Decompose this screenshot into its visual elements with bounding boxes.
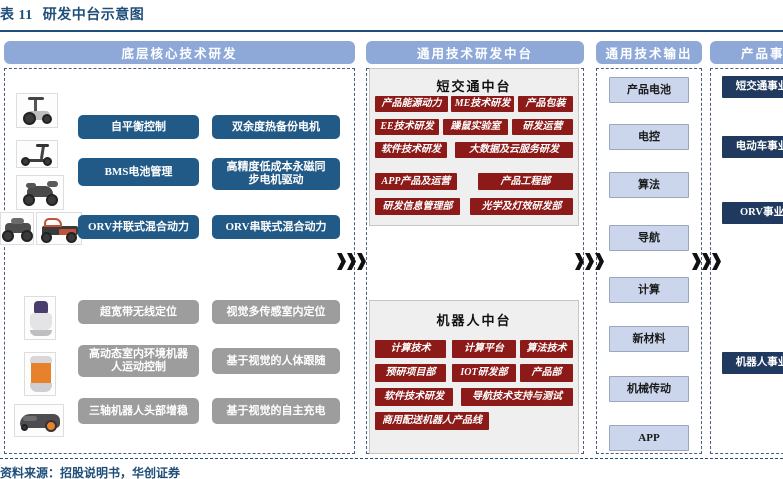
chevron-core-to-platform-icon	[337, 253, 366, 270]
tech-output-item[interactable]: 计算	[609, 277, 689, 303]
platform-item[interactable]: 光学及灯效研发部	[470, 198, 573, 215]
tech-output-item[interactable]: 电控	[609, 124, 689, 150]
source-note: 资料来源：招股说明书，华创证券	[0, 464, 180, 479]
tech-output-item[interactable]: 机械传动	[609, 376, 689, 402]
column-header-business-units: 产品事业	[710, 41, 783, 64]
column-header-tech-output: 通用技术输出	[596, 41, 702, 64]
platform-item[interactable]: 计算平台	[452, 340, 516, 358]
tech-output-item[interactable]: 新材料	[609, 326, 689, 352]
platform-title-robot: 机器人中台	[369, 310, 579, 329]
tech-output-item[interactable]: 产品电池	[609, 77, 689, 103]
platform-item[interactable]: 计算技术	[375, 340, 446, 358]
platform-item[interactable]: 研发信息管理部	[375, 198, 460, 215]
core-tech-box[interactable]: 视觉多传感室内定位	[212, 300, 340, 324]
platform-item[interactable]: APP产品及运营	[375, 173, 457, 190]
platform-item[interactable]: 商用配送机器人产品线	[375, 412, 489, 430]
platform-item[interactable]: 算法技术	[520, 340, 573, 358]
business-unit-item[interactable]: 短交通事业	[722, 76, 783, 98]
business-unit-item[interactable]: ORV事业	[722, 202, 783, 224]
platform-item[interactable]: 研发运营	[512, 119, 573, 135]
photo-kick-scooter	[16, 140, 58, 168]
core-tech-box[interactable]: 超宽带无线定位	[78, 300, 199, 324]
core-tech-box[interactable]: 自平衡控制	[78, 115, 199, 139]
footer-divider	[0, 458, 783, 459]
photo-atv-quad	[0, 212, 34, 245]
core-tech-box[interactable]: ORV并联式混合动力	[78, 215, 199, 239]
core-tech-box[interactable]: 高动态室内环境机器 人运动控制	[78, 345, 199, 377]
core-tech-box[interactable]: 三轴机器人头部增稳	[78, 398, 199, 424]
photo-lawn-mower-robot	[14, 404, 64, 437]
chevron-platform-to-output-icon	[575, 253, 604, 270]
platform-item[interactable]: 躁鼠实验室	[443, 119, 508, 135]
platform-item[interactable]: 产品部	[520, 364, 573, 382]
core-tech-box[interactable]: BMS电池管理	[78, 158, 199, 186]
photo-delivery-robot-orange	[24, 352, 56, 396]
platform-item[interactable]: 软件技术研发	[375, 388, 453, 406]
platform-item[interactable]: 大数据及云服务研发	[455, 142, 573, 158]
caption-number: 11	[19, 8, 33, 23]
platform-item[interactable]: IOT研发部	[452, 364, 516, 382]
platform-item[interactable]: 产品包装	[518, 96, 573, 112]
business-unit-item[interactable]: 电动车事业	[722, 136, 783, 158]
tech-output-item[interactable]: 算法	[609, 172, 689, 198]
platform-title-transport: 短交通中台	[369, 76, 579, 95]
platform-item[interactable]: 预研项目部	[375, 364, 446, 382]
chevron-output-to-business-icon	[692, 253, 721, 270]
core-tech-box[interactable]: ORV串联式混合动力	[212, 215, 340, 239]
platform-item[interactable]: 产品工程部	[478, 173, 573, 190]
caption-title: 研发中台示意图	[43, 8, 145, 23]
platform-item[interactable]: EE技术研发	[375, 119, 439, 135]
photo-delivery-robot-white	[24, 296, 56, 340]
business-unit-item[interactable]: 机器人事业	[722, 352, 783, 374]
platform-item[interactable]: ME技术研发	[451, 96, 514, 112]
core-tech-box[interactable]: 高精度低成本永磁同 步电机驱动	[212, 158, 340, 190]
core-tech-box[interactable]: 双余度热备份电机	[212, 115, 340, 139]
caption-divider	[0, 30, 783, 32]
photo-utv-buggy	[36, 212, 82, 245]
tech-output-item[interactable]: APP	[609, 425, 689, 451]
core-tech-box[interactable]: 基于视觉的人体跟随	[212, 348, 340, 374]
photo-electric-moped	[16, 175, 64, 210]
photo-self-balancing-scooter	[16, 93, 58, 128]
tech-output-item[interactable]: 导航	[609, 225, 689, 251]
core-tech-box[interactable]: 基于视觉的自主充电	[212, 398, 340, 424]
platform-item[interactable]: 导航技术支持与测试	[461, 388, 573, 406]
column-header-platform: 通用技术研发中台	[366, 41, 584, 64]
figure-caption: 表11研发中台示意图	[0, 4, 144, 24]
caption-prefix: 表	[0, 8, 15, 23]
column-header-core-tech: 底层核心技术研发	[4, 41, 355, 64]
platform-item[interactable]: 产品能源动力	[375, 96, 448, 112]
platform-item[interactable]: 软件技术研发	[375, 142, 447, 158]
